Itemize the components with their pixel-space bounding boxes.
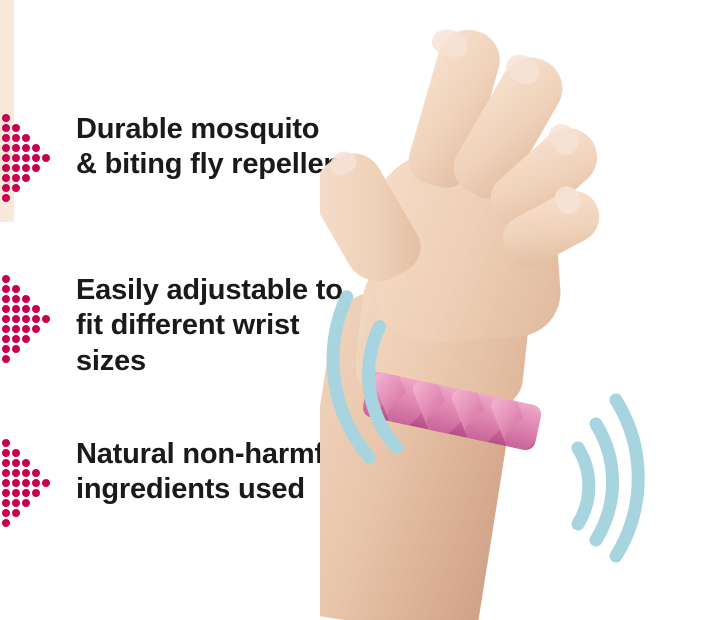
arrow-dot	[12, 469, 20, 477]
arrow-dot	[2, 355, 10, 363]
arrow-dot	[2, 449, 10, 457]
arrow-dot	[2, 305, 10, 313]
feature-item-natural-ingredients: Natural non-harmful ingredients used	[2, 437, 349, 525]
arrow-dot	[12, 184, 20, 192]
arrow-dot	[42, 154, 50, 162]
arrow-dot	[22, 335, 30, 343]
hand-wearing-bracelet-photo	[320, 0, 720, 620]
arrow-dot	[2, 479, 10, 487]
arrow-dot	[2, 144, 10, 152]
arrow-dot	[22, 305, 30, 313]
arrow-dot	[2, 509, 10, 517]
arrow-dot	[22, 154, 30, 162]
arrow-dot	[32, 144, 40, 152]
arrow-dot	[2, 114, 10, 122]
arrow-dot	[12, 315, 20, 323]
arrow-dot	[12, 489, 20, 497]
arrow-dot	[32, 489, 40, 497]
arrow-dot	[12, 164, 20, 172]
arrow-dot	[12, 479, 20, 487]
arrow-dot	[32, 325, 40, 333]
arrow-dot	[12, 459, 20, 467]
arrow-dot	[12, 134, 20, 142]
arrow-dot	[22, 469, 30, 477]
arrow-dot	[12, 449, 20, 457]
arrow-dot	[2, 184, 10, 192]
arrow-dot	[2, 489, 10, 497]
arrow-dot	[22, 174, 30, 182]
arrow-dot	[32, 479, 40, 487]
arrow-dot	[12, 154, 20, 162]
arrow-dot	[22, 315, 30, 323]
arrow-dot	[2, 335, 10, 343]
arrow-dot	[32, 315, 40, 323]
feature-label: Natural non-harmful ingredients used	[76, 437, 349, 508]
arrow-dot	[22, 489, 30, 497]
arrow-dot	[32, 469, 40, 477]
dotted-triangle-arrow-icon	[2, 275, 58, 361]
arrow-dot	[42, 479, 50, 487]
arrow-dot	[22, 164, 30, 172]
arm-illustration	[320, 0, 720, 620]
arrow-dot	[12, 335, 20, 343]
arrow-dot	[22, 144, 30, 152]
product-feature-infographic: Durable mosquito & biting fly repellent …	[0, 0, 720, 620]
arrow-dot	[2, 469, 10, 477]
arrow-dot	[2, 285, 10, 293]
arrow-dot	[22, 499, 30, 507]
feature-label: Durable mosquito & biting fly repellent	[76, 112, 350, 183]
arrow-dot	[2, 134, 10, 142]
arrow-dot	[2, 164, 10, 172]
arrow-dot	[22, 325, 30, 333]
arrow-dot	[2, 154, 10, 162]
arrow-dot	[12, 144, 20, 152]
arrow-dot	[2, 459, 10, 467]
arrow-dot	[2, 295, 10, 303]
feature-item-durable-repellent: Durable mosquito & biting fly repellent	[2, 112, 350, 200]
arrow-dot	[2, 124, 10, 132]
dotted-triangle-arrow-icon	[2, 439, 58, 525]
arrow-dot	[12, 305, 20, 313]
arrow-dot	[2, 315, 10, 323]
arrow-dot	[12, 295, 20, 303]
arrow-dot	[12, 285, 20, 293]
arrow-dot	[12, 174, 20, 182]
arrow-dot	[32, 154, 40, 162]
arrow-dot	[2, 519, 10, 527]
feature-label: Easily adjustable to fit different wrist…	[76, 273, 343, 379]
arrow-dot	[2, 275, 10, 283]
arrow-dot	[2, 439, 10, 447]
arrow-dot	[32, 164, 40, 172]
arrow-dot	[2, 499, 10, 507]
dotted-triangle-arrow-icon	[2, 114, 58, 200]
arrow-dot	[42, 315, 50, 323]
arrow-dot	[2, 174, 10, 182]
arrow-dot	[2, 325, 10, 333]
arrow-dot	[2, 345, 10, 353]
arrow-dot	[22, 479, 30, 487]
arrow-dot	[12, 499, 20, 507]
feature-item-adjustable-fit: Easily adjustable to fit different wrist…	[2, 273, 343, 379]
arrow-dot	[22, 295, 30, 303]
arrow-dot	[22, 134, 30, 142]
arrow-dot	[12, 345, 20, 353]
arrow-dot	[12, 124, 20, 132]
arrow-dot	[32, 305, 40, 313]
arrow-dot	[12, 509, 20, 517]
arrow-dot	[2, 194, 10, 202]
arrow-dot	[12, 325, 20, 333]
arrow-dot	[22, 459, 30, 467]
